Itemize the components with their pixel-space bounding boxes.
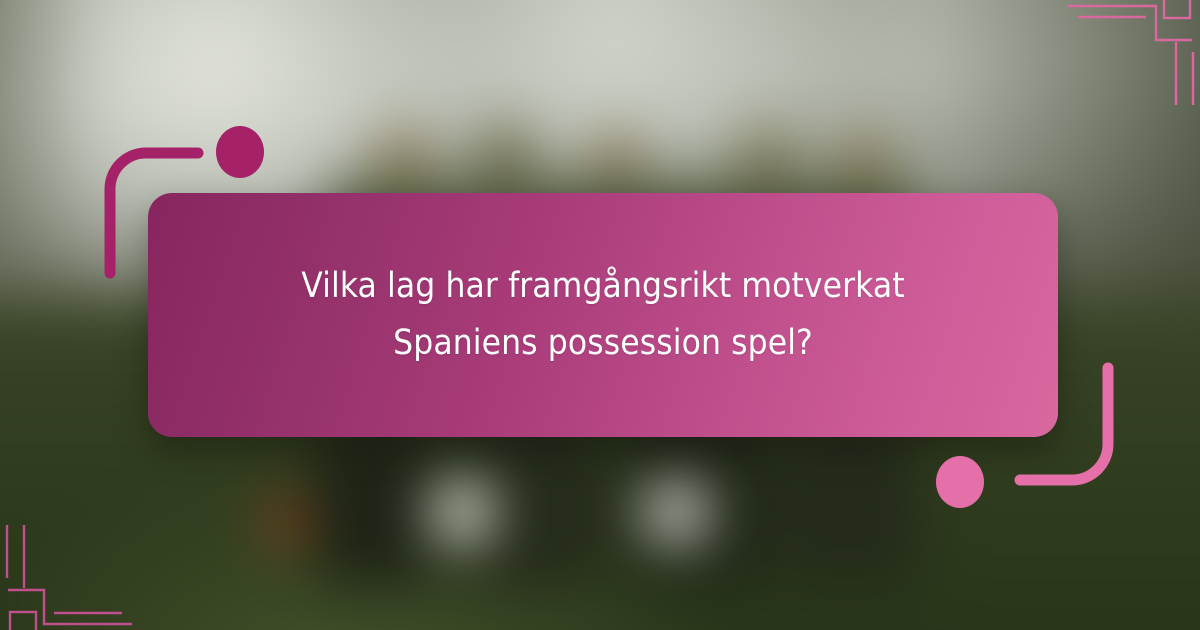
blurred-kit-accent: [269, 498, 305, 545]
blurred-player-front: [314, 426, 441, 585]
question-text: Vilka lag har framgångsrikt motverkat Sp…: [257, 258, 948, 371]
accent-dot-bottom-right-icon: [936, 456, 984, 508]
question-line-1: Vilka lag har framgångsrikt motverkat: [301, 266, 904, 306]
question-card: Vilka lag har framgångsrikt motverkat Sp…: [148, 193, 1058, 437]
blurred-football: [642, 479, 710, 545]
question-line-2: Spaniens possession spel?: [393, 323, 813, 363]
background-left-shade: [0, 0, 96, 347]
blurred-football: [428, 479, 496, 545]
circuit-corner-bottom-left-icon: [0, 525, 170, 630]
accent-dot-top-left-icon: [216, 126, 264, 178]
share-card-canvas: Vilka lag har framgångsrikt motverkat Sp…: [0, 0, 1200, 630]
circuit-corner-top-right-icon: [1030, 0, 1200, 105]
blurred-player-front: [780, 424, 918, 585]
bracket-bottom-right-icon: [1008, 358, 1128, 508]
